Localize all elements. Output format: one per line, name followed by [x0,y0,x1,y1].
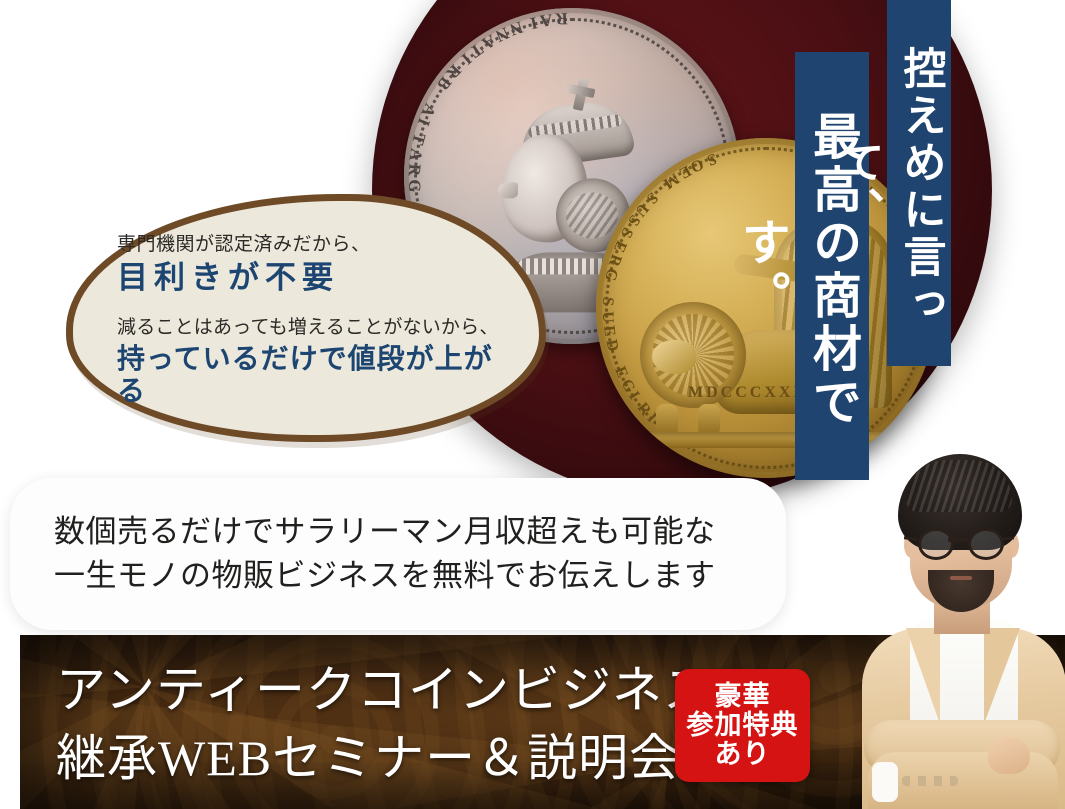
glasses-icon [908,528,1016,554]
glasses-bridge [948,538,968,542]
legend-char: G [404,179,424,193]
benefit-speech-bubble: 専門機関が認定済みだから、 目利きが不要 減ることはあっても増えることがないから… [66,194,546,442]
glasses-lens-right [968,528,1004,560]
badge-line-2: 参加特典 [687,711,799,740]
legend-char: T [407,131,429,147]
legend-char: E [599,325,618,339]
offer-message-line-1: 数個売るだけでサラリーマン月収超えも可能な [54,510,786,554]
legend-char: D [601,338,621,354]
badge-line-3: あり [715,740,771,769]
legend-char: S [598,296,617,307]
legend-char: R [404,163,424,177]
seminar-title-line-1: アンティークコインビジネス [56,657,714,725]
offer-message-line-2: 一生モノの物販ビジネスを無料でお伝えします [54,554,786,598]
bubble-subtext-2: 減ることはあっても増えることがないから、 [117,312,521,339]
hero-banner: VICTORIA DEI GRATIA BRITANNIAR DIRIGE DE… [0,0,1065,809]
presenter-photo [858,452,1065,809]
sleeve-buttons [902,776,958,786]
lapel-left-shape [906,628,940,724]
bonus-badge[interactable]: 豪華 参加特典 あり [675,669,810,782]
seminar-title-line-2: 継承WEBセミナー＆説明会 [56,725,714,793]
glasses-lens-left [918,528,954,560]
nose-shape [498,182,518,198]
lapel-right-shape [984,628,1020,724]
legend-char: A [539,9,554,30]
legend-char: U [598,311,616,324]
mouth-shape [950,576,972,580]
badge-line-1: 豪華 [715,682,771,711]
legend-char: A [404,147,426,163]
hand-shape [988,738,1030,774]
legend-char: R [555,8,568,28]
lion-muzzle-shape [652,340,696,374]
cuff-shape [872,762,898,802]
offer-message-box: 数個売るだけでサラリーマン月収超えも可能な 一生モノの物販ビジネスを無料でお伝え… [10,478,786,630]
vertical-headline-right: 控えめに言って、 [887,0,951,366]
bubble-headline-1: 目利きが不要 [117,260,521,296]
glasses-temple-right [1000,536,1014,540]
bubble-subtext-1: 専門機関が認定済みだから、 [117,229,521,256]
seminar-title: アンティークコインビジネス 継承WEBセミナー＆説明会 [56,657,714,792]
bubble-headline-2: 持っているだけで値段が上がる [117,343,521,407]
legend-char: S [704,149,719,169]
